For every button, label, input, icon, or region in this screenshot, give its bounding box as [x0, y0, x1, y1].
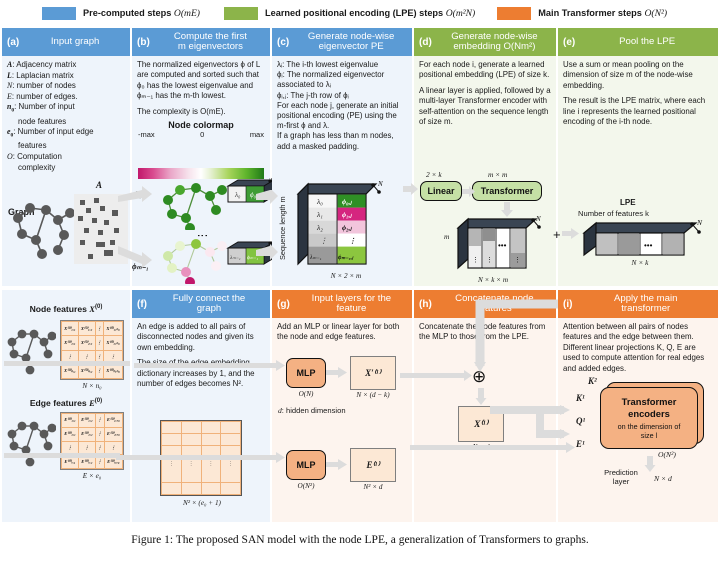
- panel-d-text-2: A linear layer is applied, followed by a…: [419, 86, 551, 128]
- panel-f-body: An edge is added to all pairs of disconn…: [132, 318, 270, 392]
- panel-f-letter: (f): [135, 299, 151, 310]
- cell: X⁽⁰⁾₁,ₙ₀: [104, 322, 123, 336]
- input-K1-label: K¹: [576, 393, 585, 403]
- x-prime-1-box: X′⁽¹⁾: [350, 356, 396, 390]
- cell: ⋮: [95, 322, 104, 336]
- svg-text:⋮: ⋮: [486, 257, 493, 264]
- panel-g-body: Add an MLP or linear layer for both the …: [272, 318, 412, 346]
- arrow-graph-to-phi: [118, 186, 158, 276]
- legend-label-precomputed: Pre-computed steps O(mE): [83, 8, 200, 19]
- colormap-mid: 0: [200, 130, 204, 139]
- panel-i-title: Apply the maintransformer: [576, 294, 715, 315]
- panel-d-title: Generate node-wiseembedding O(Nm²): [436, 32, 553, 53]
- legend-item-lpe: Learned positional encoding (LPE) steps …: [224, 7, 475, 20]
- def-E: E: number of edges.: [7, 92, 125, 103]
- panel-e-graphics: LPE Number of features k ••• N N × k: [576, 198, 716, 278]
- adjacency-matrix-label: A: [96, 180, 102, 190]
- linear-layer-box[interactable]: Linear: [420, 181, 462, 201]
- legend-label-main-transformer: Main Transformer steps O(N²): [538, 8, 667, 19]
- linear-dim-label: 2 × k: [426, 170, 442, 179]
- panel-e-text-2: The result is the LPE matrix, where each…: [563, 96, 713, 127]
- colormap-block: Node colormap -max 0 max: [132, 120, 270, 139]
- node-feature-graph: [4, 326, 56, 382]
- arrow-linear-to-transformer: [462, 186, 476, 198]
- panel-c-graphics: Sequence length m λ₀λ₁λ₂ ⋮λₘ₋₁ ϕ₀,ⱼϕ₁,: [276, 178, 412, 284]
- panel-i-main-transformer: (i) Apply the maintransformer Attention …: [558, 290, 718, 522]
- panel-h-letter: (h): [417, 299, 436, 310]
- svg-text:•••: •••: [498, 241, 507, 250]
- def-A: A: Adjacency matrix: [7, 60, 125, 71]
- cell: ⋮: [95, 427, 104, 441]
- x-prime-1-dim: N × (d − k): [342, 391, 404, 399]
- panel-d-body: For each node i, generate a learned posi…: [414, 56, 556, 130]
- arrow-X0-right: [4, 358, 134, 370]
- legend-swatch-precomputed: [42, 7, 76, 20]
- edge-dim-label: E × e₀: [60, 472, 124, 480]
- edge-feature-graph: [4, 418, 56, 474]
- panel-c-letter: (c): [275, 37, 293, 48]
- legend-swatch-lpe: [224, 7, 258, 20]
- panel-g-title: Input layers for thefeature: [294, 294, 409, 315]
- mlp-edge-cost: O(N²): [282, 482, 330, 490]
- panel-e-title: Pool the LPE: [579, 37, 715, 48]
- fc-dim-label: N² × (e₀ + 1): [156, 499, 248, 507]
- cell: ⋮: [95, 414, 104, 428]
- panel-a-body: A: Adjacency matrix L: Laplacian matrix …: [2, 56, 130, 176]
- panel-c-title: Generate node-wiseeigenvector PE: [293, 32, 409, 53]
- cube-side-label-d: m: [444, 232, 449, 241]
- arrow-c-to-d: [403, 183, 419, 197]
- panel-i-out-dim: N × d: [654, 474, 672, 483]
- panel-c-line-1: λᵢ: The i-th lowest eigenvalue: [277, 60, 407, 70]
- figure-caption: Figure 1: The proposed SAN model with th…: [0, 534, 720, 546]
- panel-b-header: (b) Compute the firstm eigenvectors: [132, 28, 270, 56]
- legend-swatch-main-transformer: [497, 7, 531, 20]
- cell: ⋮: [95, 336, 104, 350]
- panel-e-body: Use a sum or mean pooling on the dimensi…: [558, 56, 718, 130]
- arrow-e1-to-e: [410, 442, 576, 454]
- def-L: L: Laplacian matrix: [7, 71, 125, 82]
- panel-g-header: (g) Input layers for thefeature: [272, 290, 412, 318]
- panel-a-graphics: Graph: [6, 180, 128, 280]
- plus-sign-de: +: [553, 227, 561, 242]
- colormap-max: max: [250, 130, 264, 139]
- legend: Pre-computed steps O(mE) Learned positio…: [0, 0, 720, 26]
- panel-g-text-1: Add an MLP or linear layer for both the …: [277, 322, 407, 343]
- panel-i-body: Attention between all pairs of nodes fea…: [558, 318, 718, 377]
- panel-b-text-1: The normalized eigenvectors ϕ of L are c…: [137, 60, 265, 102]
- svg-text:ϕ₂,ⱼ: ϕ₂,ⱼ: [342, 224, 352, 232]
- cell: X⁽⁰⁾₂,ₙ₀: [104, 336, 123, 350]
- cell: E⁽⁰⁾₁,₂: [78, 414, 95, 428]
- panel-c-body: λᵢ: The i-th lowest eigenvalue ϕᵢ: The n…: [272, 56, 412, 155]
- panel-b-letter: (b): [135, 37, 154, 48]
- panel-d-text-1: For each node i, generate a learned posi…: [419, 60, 551, 81]
- panel-a-title: Input graph: [23, 37, 127, 48]
- panel-a-header: (a) Input graph: [2, 28, 130, 56]
- panel-c-line-3: ϕᵢ,ⱼ: The j-th row of ϕᵢ: [277, 91, 407, 101]
- depth-label-c: N: [377, 180, 383, 188]
- svg-text:λ₀: λ₀: [234, 191, 241, 199]
- encoder-title: Transformerencoders: [622, 396, 677, 420]
- svg-text:λₘ₋₁: λₘ₋₁: [309, 255, 322, 261]
- arrow-x1-to-kq: [486, 398, 576, 448]
- lpe-label: LPE: [620, 198, 636, 207]
- node-feature-matrix: X⁽⁰⁾₁,₁X⁽⁰⁾₁,₂⋮X⁽⁰⁾₁,ₙ₀ X⁽⁰⁾₂,₁X⁽⁰⁾₂,₂⋮X…: [60, 320, 124, 380]
- arrow-E0-right: [4, 450, 124, 462]
- panel-d-cube: ••• ⋮ ⋮ ⋮ N: [454, 216, 546, 278]
- arrow-d-to-e: [562, 228, 580, 240]
- panel-g-input-layers: (g) Input layers for thefeature Add an M…: [272, 290, 412, 522]
- edge-features-title: Edge features E(0): [2, 398, 130, 408]
- depth-label-d: N: [535, 216, 541, 223]
- cell: X⁽⁰⁾₁,₂: [78, 322, 95, 336]
- e-1-dim: N² × d: [346, 483, 400, 491]
- panel-d-letter: (d): [417, 37, 436, 48]
- panel-i-cost: O(N²): [658, 450, 676, 459]
- edge-features-row: E⁽⁰⁾₁,₁E⁽⁰⁾₁,₂⋮E⁽⁰⁾₁,ₑ₀ E⁽⁰⁾₂,₁E⁽⁰⁾₂,₂⋮E…: [2, 408, 130, 488]
- figure-root: Pre-computed steps O(mE) Learned positio…: [0, 0, 720, 568]
- panel-f-text-1: An edge is added to all pairs of disconn…: [137, 322, 265, 353]
- arrow-edgefeat-to-mlp: [116, 452, 286, 464]
- panel-g-letter: (g): [275, 299, 294, 310]
- svg-text:ϕ₀,ⱼ: ϕ₀,ⱼ: [342, 198, 352, 206]
- colormap-title: Node colormap: [138, 120, 264, 130]
- def-O: O: Computationcomplexity: [7, 152, 125, 173]
- panel-d-dim-label: N × k × m: [458, 276, 528, 284]
- panel-c-line-2: ϕᵢ: The normalized eigenvector associate…: [277, 70, 407, 90]
- arrows-into-c: [256, 190, 282, 276]
- panel-e-text-1: Use a sum or mean pooling on the dimensi…: [563, 60, 713, 91]
- cell: E⁽⁰⁾₁,₁: [62, 414, 79, 428]
- prediction-layer-label: Predictionlayer: [584, 468, 658, 487]
- def-N: N: number of nodes: [7, 81, 125, 92]
- panel-c-line-5: If a graph has less than m nodes, add a …: [277, 131, 407, 151]
- panel-d-graphics: 2 × k Linear m × m Transformer m •••: [416, 170, 556, 286]
- panel-f-header: (f) Fully connect thegraph: [132, 290, 270, 318]
- panel-a-letter: (a): [5, 37, 23, 48]
- svg-text:ϕ₁,ⱼ: ϕ₁,ⱼ: [342, 211, 352, 219]
- legend-item-precomputed: Pre-computed steps O(mE): [42, 7, 200, 20]
- colormap-min: -max: [138, 130, 155, 139]
- depth-label-e: N: [696, 219, 703, 227]
- panel-d-header: (d) Generate node-wiseembedding O(Nm²): [414, 28, 556, 56]
- arrow-xprime-to-concat: [400, 370, 476, 382]
- panel-c-dim-label: N × 2 × m: [306, 272, 386, 280]
- panel-i-letter: (i): [561, 299, 576, 310]
- panel-e-header: (e) Pool the LPE: [558, 28, 718, 56]
- mlp-node-cost: O(N): [286, 390, 326, 398]
- def-e0: e0: Number of input edgefeatures: [7, 127, 125, 152]
- input-K2-label: K²: [588, 376, 597, 386]
- node-dim-label: N × n₀: [60, 382, 124, 390]
- svg-text:λ₂: λ₂: [316, 223, 323, 232]
- cell: X⁽⁰⁾₂,₁: [62, 336, 79, 350]
- arrow-mlp-edge-out: [326, 459, 348, 471]
- arrow-mlp-node-out: [326, 367, 348, 379]
- panel-e-dim-label: N × k: [610, 258, 670, 267]
- legend-item-main-transformer: Main Transformer steps O(N²): [497, 7, 667, 20]
- svg-text:⋮: ⋮: [349, 237, 356, 245]
- node-features-title: Node features X(0): [2, 290, 130, 314]
- node-features-row: X⁽⁰⁾₁,₁X⁽⁰⁾₁,₂⋮X⁽⁰⁾₁,ₙ₀ X⁽⁰⁾₂,₁X⁽⁰⁾₂,₂⋮X…: [2, 314, 130, 396]
- cell: X⁽⁰⁾₂,₂: [78, 336, 95, 350]
- left-bottom-features: Node features X(0) X⁽⁰⁾₁,₁: [2, 290, 130, 522]
- svg-text:λ₁: λ₁: [316, 210, 323, 219]
- colormap-labels: -max 0 max: [138, 130, 264, 139]
- svg-text:⋮: ⋮: [472, 257, 479, 264]
- panel-f-fully-connect: (f) Fully connect thegraph An edge is ad…: [132, 290, 270, 522]
- mlp-edge-box[interactable]: MLP: [286, 450, 326, 480]
- panel-c-line-4: For each node j, generate an initial pos…: [277, 101, 407, 132]
- panel-f-title: Fully connect thegraph: [151, 294, 267, 315]
- arrow-nodefeat-to-mlp: [134, 360, 286, 372]
- panel-c-header: (c) Generate node-wiseeigenvector PE: [272, 28, 412, 56]
- input-Q1-label: Q¹: [576, 416, 585, 426]
- panel-i-text-1: Attention between all pairs of nodes fea…: [563, 322, 713, 374]
- cell: E⁽⁰⁾₁,ₑ₀: [104, 414, 122, 428]
- e-1-box: E⁽¹⁾: [350, 448, 396, 482]
- panel-b-text-2: The complexity is O(mE).: [137, 107, 265, 117]
- cell: E⁽⁰⁾₂,ₑ₀: [104, 427, 122, 441]
- svg-text:ϕₘ₋₁,ⱼ: ϕₘ₋₁,ⱼ: [338, 255, 354, 261]
- transformer-encoders-box[interactable]: Transformerencoders on the dimension ofs…: [600, 387, 698, 449]
- svg-text:⋮: ⋮: [320, 236, 327, 245]
- cell: E⁽⁰⁾₂,₁: [62, 427, 79, 441]
- cell: E⁽⁰⁾₂,₂: [78, 427, 95, 441]
- svg-text:λₘ₋₁: λₘ₋₁: [229, 255, 241, 261]
- legend-label-lpe: Learned positional encoding (LPE) steps …: [265, 8, 475, 19]
- transformer-box[interactable]: Transformer: [472, 181, 542, 201]
- transformer-dim-label: m × m: [488, 170, 507, 179]
- panel-e-letter: (e): [561, 37, 579, 48]
- features-label: Number of features k: [578, 209, 649, 218]
- encoder-subtitle: on the dimension ofsize l: [618, 422, 681, 440]
- svg-text:⋮: ⋮: [514, 257, 521, 264]
- def-n0: n0: Number of inputnode features: [7, 102, 125, 127]
- panel-i-header: (i) Apply the maintransformer: [558, 290, 718, 318]
- hidden-dim-note: d: hidden dimension: [278, 406, 346, 415]
- input-E1-label: E¹: [576, 439, 585, 449]
- panel-b-title: Compute the firstm eigenvectors: [154, 32, 267, 53]
- cell: X⁽⁰⁾₁,₁: [62, 322, 79, 336]
- svg-text:λ₀: λ₀: [316, 197, 323, 206]
- mlp-node-box[interactable]: MLP: [286, 358, 326, 388]
- pe-cube-svg: λ₀λ₁λ₂ ⋮λₘ₋₁ ϕ₀,ⱼϕ₁,ⱼ ϕ₂,ⱼ⋮ ϕₘ₋₁,ⱼ N: [294, 180, 390, 272]
- panel-b-body: The normalized eigenvectors ϕ of L are c…: [132, 56, 270, 120]
- svg-text:•••: •••: [644, 241, 653, 250]
